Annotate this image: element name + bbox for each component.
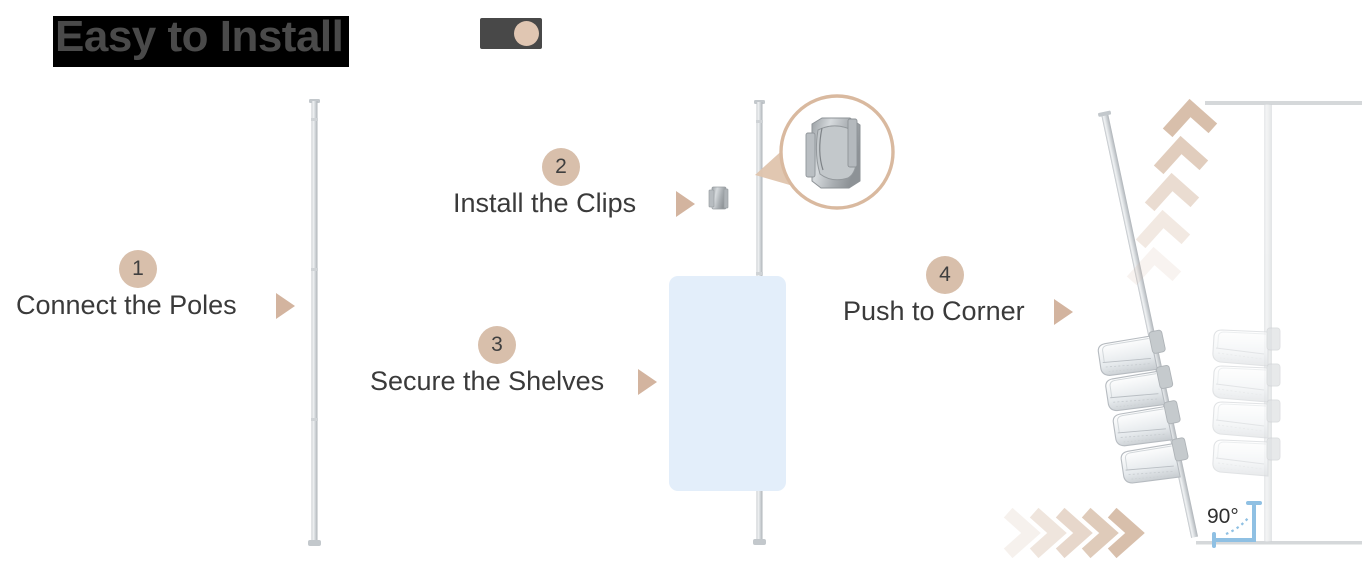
install-steps-infographic: Easy to Install <box>0 0 1362 570</box>
step-4-arrow-icon <box>1054 299 1073 325</box>
step2-magnifier <box>755 96 893 208</box>
step-2-badge: 2 <box>542 148 580 186</box>
shelf-highlight-panel <box>669 276 786 491</box>
toggle-knob-icon[interactable] <box>514 21 539 46</box>
step-4-label: Push to Corner <box>843 294 1025 328</box>
page-title-wrap: Easy to Install <box>53 8 343 66</box>
page-title: Easy to Install <box>53 8 343 66</box>
clip-mini-icon <box>709 187 728 209</box>
toggle-switch[interactable] <box>480 18 542 49</box>
step4-tilted-pole <box>1049 110 1205 549</box>
step1-pole-illustration <box>308 99 321 546</box>
step-3-arrow-icon <box>638 369 657 395</box>
step-1-label: Connect the Poles <box>16 288 237 322</box>
angle-label: 90° <box>1207 505 1239 529</box>
step4-target-pole <box>1213 104 1280 542</box>
step-3-badge: 3 <box>478 326 516 364</box>
step-1-badge: 1 <box>119 250 157 288</box>
pole-clip-icon <box>806 118 860 188</box>
step-2-label: Install the Clips <box>453 186 636 220</box>
step4-right-chevrons <box>1013 517 1135 549</box>
step-4-badge: 4 <box>926 256 964 294</box>
step-1-arrow-icon <box>276 293 295 319</box>
step4-room-lines <box>1196 101 1362 545</box>
step-2-arrow-icon <box>676 191 695 217</box>
step4-up-chevrons <box>1136 108 1208 276</box>
step-3-label: Secure the Shelves <box>370 364 604 398</box>
